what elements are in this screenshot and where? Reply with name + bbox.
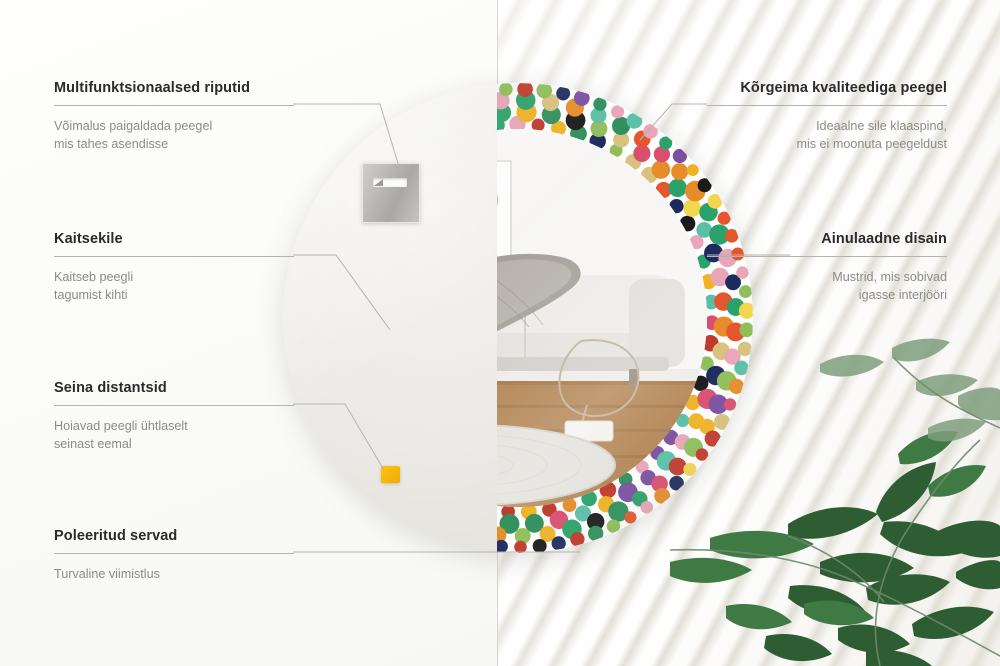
callout-hangers-rule [54,105,294,106]
hanger-slot [373,178,407,187]
callout-wall-spacers: Seina distantsid Hoiavad peegli ühtlasel… [54,380,294,454]
callout-protective-film-desc-line-2: tagumist kihti [54,286,294,304]
foliage-decoration [670,336,1000,666]
wall-spacer-hotspot [381,466,400,483]
callout-polished-edges: Poleeritud servad Turvaline viimistlus [54,528,294,583]
callout-hangers-desc-line-2: mis tahes asendisse [54,135,294,153]
callout-polished-edges-title: Poleeritud servad [54,528,294,544]
callout-polished-edges-rule [54,553,294,554]
callout-top-quality-mirror-rule [707,105,947,106]
callout-wall-spacers-title: Seina distantsid [54,380,294,396]
callout-protective-film-title: Kaitsekile [54,231,294,247]
callout-wall-spacers-rule [54,405,294,406]
callout-unique-design: Ainulaadne disain Mustrid, mis sobivad i… [707,231,947,305]
callout-protective-film-rule [54,256,294,257]
callout-wall-spacers-desc-line-2: seinast eemal [54,435,294,453]
callout-wall-spacers-desc-line-1: Hoiavad peegli ühtlaselt [54,417,294,435]
callout-unique-design-title: Ainulaadne disain [707,231,947,247]
callout-unique-design-desc-line-1: Mustrid, mis sobivad [707,268,947,286]
infographic-canvas: Multifunktsionaalsed riputid Võimalus pa… [0,0,1000,666]
callout-unique-design-rule [707,256,947,257]
callout-hangers-title: Multifunktsionaalsed riputid [54,80,294,96]
callout-top-quality-mirror-title: Kõrgeima kvaliteediga peegel [707,80,947,96]
callout-top-quality-mirror-desc-line-1: Ideaalne sile klaaspind, [707,117,947,135]
callout-protective-film-desc-line-1: Kaitseb peegli [54,268,294,286]
callout-hangers-desc-line-1: Võimalus paigaldada peegel [54,117,294,135]
callout-top-quality-mirror: Kõrgeima kvaliteediga peegel Ideaalne si… [707,80,947,154]
callout-polished-edges-desc-line-1: Turvaline viimistlus [54,565,294,583]
callout-top-quality-mirror-desc-line-2: mis ei moonuta peegeldust [707,135,947,153]
hanger-plate-hotspot [362,163,420,223]
callout-unique-design-desc-line-2: igasse interjööri [707,286,947,304]
callout-hangers: Multifunktsionaalsed riputid Võimalus pa… [54,80,294,154]
callout-protective-film: Kaitsekile Kaitseb peegli tagumist kihti [54,231,294,305]
